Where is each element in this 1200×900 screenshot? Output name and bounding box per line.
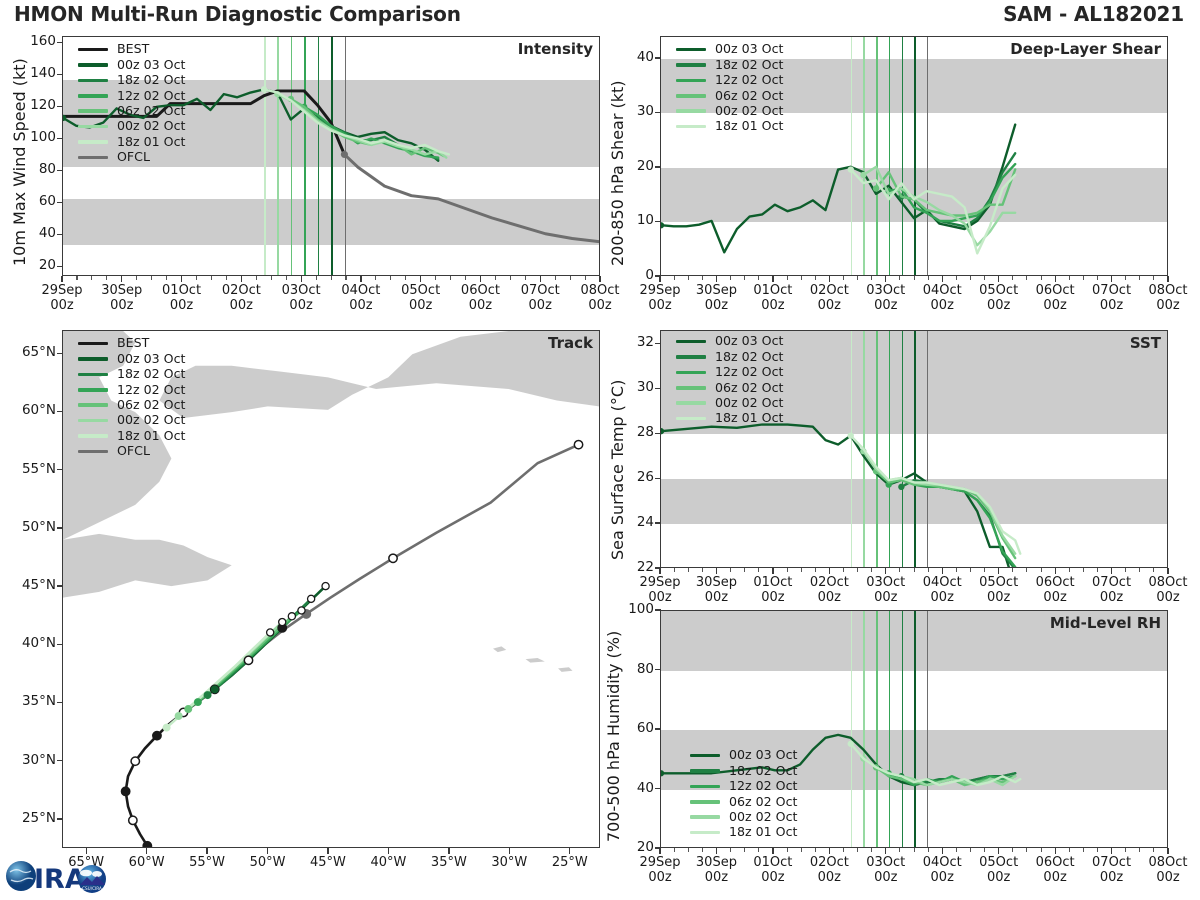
x-minor-tick-mark — [375, 276, 376, 280]
track-x-tick-label: 40°W — [356, 856, 420, 871]
legend-color-swatch-icon — [78, 109, 108, 113]
x-minor-tick-mark — [801, 568, 802, 572]
sst-y-tick-label: 22 — [612, 559, 654, 575]
legend-color-swatch-icon — [676, 371, 706, 375]
x-tick-mark — [241, 276, 242, 282]
legend-color-swatch-icon — [78, 125, 108, 129]
x-minor-tick-mark — [899, 568, 900, 572]
run-track-end-marker — [288, 613, 295, 620]
x-minor-tick-mark — [787, 848, 788, 852]
legend-label: 18z 01 Oct — [117, 136, 185, 149]
track-legend-row: 12z 02 Oct — [78, 382, 185, 397]
x-minor-tick-mark — [899, 848, 900, 852]
x-minor-tick-mark — [702, 848, 703, 852]
series-start-marker — [873, 185, 879, 191]
x-minor-tick-mark — [815, 276, 816, 280]
x-tick-mark — [1055, 276, 1056, 282]
x-minor-tick-mark — [758, 276, 759, 280]
legend-color-swatch-icon — [690, 769, 720, 773]
x-minor-tick-mark — [730, 848, 731, 852]
x-tick-mark — [540, 276, 541, 282]
intensity-legend: BEST00z 03 Oct18z 02 Oct12z 02 Oct06z 02… — [78, 42, 185, 165]
x-minor-tick-mark — [688, 848, 689, 852]
run-track-end-marker — [279, 618, 286, 625]
x-tick-mark — [772, 568, 773, 574]
shear-legend-row: 00z 02 Oct — [676, 104, 783, 119]
legend-color-swatch-icon — [78, 94, 108, 98]
run-track-start-marker — [194, 698, 202, 706]
y-tick-mark — [655, 275, 661, 276]
rh-legend-row: 18z 01 Oct — [690, 825, 797, 840]
legend-label: 00z 02 Oct — [729, 811, 797, 824]
rh-y-tick-label: 80 — [612, 661, 654, 677]
intensity-legend-row: 18z 02 Oct — [78, 73, 185, 88]
legend-label: 18z 01 Oct — [715, 120, 783, 133]
legend-label: 06z 02 Oct — [729, 796, 797, 809]
sst-legend-row: 18z 01 Oct — [676, 411, 783, 426]
legend-color-swatch-icon — [78, 419, 108, 423]
legend-color-swatch-icon — [78, 63, 108, 67]
x-minor-tick-mark — [815, 848, 816, 852]
x-minor-tick-mark — [730, 276, 731, 280]
x-minor-tick-mark — [1069, 568, 1070, 572]
intensity-x-tick-label: 04Oct00z — [327, 284, 395, 314]
best-track-12z-marker — [131, 757, 139, 765]
legend-label: 00z 02 Oct — [117, 120, 185, 133]
legend-color-swatch-icon — [690, 785, 720, 789]
shear-legend-row: 18z 02 Oct — [676, 57, 783, 72]
legend-color-swatch-icon — [78, 450, 108, 454]
legend-label: 12z 02 Oct — [117, 384, 185, 397]
legend-color-swatch-icon — [78, 140, 108, 144]
legend-color-swatch-icon — [78, 357, 108, 361]
sst-panel-title: SST — [1130, 334, 1161, 352]
intensity-y-tick-label: 140 — [14, 65, 56, 81]
x-minor-tick-mark — [495, 276, 496, 280]
x-tick-mark — [772, 276, 773, 282]
intensity-x-tick-label: 05Oct00z — [387, 284, 455, 314]
track-y-tick-label: 40°N — [0, 635, 56, 651]
x-tick-mark — [206, 848, 207, 854]
legend-color-swatch-icon — [690, 754, 720, 758]
x-minor-tick-mark — [390, 276, 391, 280]
best-track-12z-marker — [244, 656, 252, 664]
x-minor-tick-mark — [196, 276, 197, 280]
intensity-x-tick-label: 01Oct00z — [148, 284, 216, 314]
x-minor-tick-mark — [106, 276, 107, 280]
intensity-y-tick-label: 120 — [14, 97, 56, 113]
legend-label: OFCL — [117, 151, 150, 164]
intensity-legend-row: OFCL — [78, 150, 185, 165]
track-legend-row: 00z 02 Oct — [78, 413, 185, 428]
x-minor-tick-mark — [801, 276, 802, 280]
track-y-tick-label: 55°N — [0, 461, 56, 477]
shear-panel-title: Deep-Layer Shear — [1010, 40, 1161, 58]
legend-color-swatch-icon — [676, 109, 706, 113]
x-minor-tick-mark — [674, 276, 675, 280]
legend-label: 00z 02 Oct — [715, 105, 783, 118]
x-minor-tick-mark — [450, 276, 451, 280]
legend-label: 18z 02 Oct — [117, 74, 185, 87]
track-legend-row: OFCL — [78, 444, 185, 459]
x-tick-mark — [1111, 568, 1112, 574]
run-track-start-marker — [211, 685, 219, 693]
x-tick-mark — [1111, 276, 1112, 282]
x-minor-tick-mark — [1041, 848, 1042, 852]
x-minor-tick-mark — [1125, 848, 1126, 852]
best-track-00z-marker — [153, 731, 161, 739]
legend-color-swatch-icon — [78, 434, 108, 438]
legend-label: 12z 02 Oct — [117, 90, 185, 103]
rh-legend: 00z 03 Oct18z 02 Oct12z 02 Oct06z 02 Oct… — [690, 748, 797, 840]
rh-panel-title: Mid-Level RH — [1050, 614, 1161, 632]
intensity-x-tick-label: 06Oct00z — [446, 284, 514, 314]
shear-y-tick-label: 40 — [612, 49, 654, 65]
legend-label: 00z 02 Oct — [715, 397, 783, 410]
intensity-y-tick-label: 80 — [14, 161, 56, 177]
x-tick-mark — [942, 276, 943, 282]
legend-label: 00z 03 Oct — [715, 43, 783, 56]
x-tick-mark — [388, 848, 389, 854]
x-minor-tick-mark — [744, 848, 745, 852]
x-tick-mark — [829, 276, 830, 282]
legend-label: 18z 01 Oct — [729, 826, 797, 839]
x-minor-tick-mark — [1069, 276, 1070, 280]
sst-legend-row: 18z 02 Oct — [676, 349, 783, 364]
x-tick-mark — [509, 848, 510, 854]
legend-label: OFCL — [117, 445, 150, 458]
x-minor-tick-mark — [984, 848, 985, 852]
x-minor-tick-mark — [1041, 276, 1042, 280]
sst-y-tick-label: 32 — [612, 334, 654, 350]
x-tick-mark — [1055, 568, 1056, 574]
rh-y-tick-label: 20 — [612, 839, 654, 855]
legend-color-swatch-icon — [676, 386, 706, 390]
x-tick-mark — [267, 848, 268, 854]
legend-label: 18z 02 Oct — [715, 351, 783, 364]
x-minor-tick-mark — [871, 848, 872, 852]
x-minor-tick-mark — [674, 568, 675, 572]
x-tick-mark — [716, 276, 717, 282]
run-track-end-marker — [322, 583, 329, 590]
sst-y-tick-label: 24 — [612, 514, 654, 530]
track-legend-row: BEST — [78, 336, 185, 351]
track-x-tick-label: 35°W — [417, 856, 481, 871]
intensity-legend-row: 06z 02 Oct — [78, 104, 185, 119]
page-title: HMON Multi-Run Diagnostic Comparison — [14, 2, 461, 26]
x-minor-tick-mark — [857, 568, 858, 572]
track-legend-row: 00z 03 Oct — [78, 351, 185, 366]
x-minor-tick-mark — [1026, 276, 1027, 280]
x-minor-tick-mark — [166, 276, 167, 280]
x-minor-tick-mark — [525, 276, 526, 280]
x-minor-tick-mark — [730, 568, 731, 572]
intensity-x-tick-label: 08Oct00z — [566, 284, 634, 314]
series-start-marker — [660, 222, 664, 228]
track-x-tick-label: 55°W — [175, 856, 239, 871]
sst-legend-row: 06z 02 Oct — [676, 380, 783, 395]
x-tick-mark — [772, 848, 773, 854]
legend-label: 12z 02 Oct — [715, 74, 783, 87]
legend-label: BEST — [117, 337, 149, 350]
x-minor-tick-mark — [286, 276, 287, 280]
shear-legend-row: 18z 01 Oct — [676, 119, 783, 134]
x-minor-tick-mark — [688, 568, 689, 572]
x-tick-mark — [998, 848, 999, 854]
run-track-end-marker — [308, 595, 315, 602]
shear-legend-row: 00z 03 Oct — [676, 42, 783, 57]
x-minor-tick-mark — [1041, 568, 1042, 572]
sst-y-tick-label: 28 — [612, 424, 654, 440]
rh-x-tick-label: 08Oct00z — [1134, 856, 1200, 886]
x-minor-tick-mark — [970, 568, 971, 572]
x-minor-tick-mark — [256, 276, 257, 280]
x-minor-tick-mark — [405, 276, 406, 280]
x-tick-mark — [1167, 568, 1168, 574]
x-tick-mark — [448, 848, 449, 854]
x-minor-tick-mark — [151, 276, 152, 280]
sst-x-tick-label: 08Oct00z — [1134, 576, 1200, 606]
run-track-end-marker — [267, 629, 274, 636]
x-tick-mark — [885, 276, 886, 282]
legend-label: 00z 03 Oct — [117, 59, 185, 72]
x-tick-mark — [942, 568, 943, 574]
rh-y-tick-label: 40 — [612, 780, 654, 796]
legend-color-swatch-icon — [676, 63, 706, 67]
track-panel-title: Track — [548, 334, 593, 352]
track-y-tick-label: 25°N — [0, 810, 56, 826]
ofcl-track-marker — [574, 440, 582, 448]
intensity-panel-title: Intensity — [518, 40, 593, 58]
run-track-start-marker — [184, 705, 192, 713]
x-tick-mark — [998, 276, 999, 282]
storm-id-title: SAM - AL182021 — [1003, 2, 1184, 26]
x-tick-mark — [885, 568, 886, 574]
legend-label: 18z 02 Oct — [117, 368, 185, 381]
y-tick-mark — [655, 847, 661, 848]
track-legend-row: 06z 02 Oct — [78, 398, 185, 413]
intensity-y-tick-label: 20 — [14, 257, 56, 273]
x-minor-tick-mark — [1153, 848, 1154, 852]
legend-label: 06z 02 Oct — [117, 399, 185, 412]
x-minor-tick-mark — [1139, 276, 1140, 280]
shear-legend-row: 06z 02 Oct — [676, 88, 783, 103]
x-tick-mark — [659, 568, 660, 574]
x-minor-tick-mark — [465, 276, 466, 280]
x-tick-mark — [146, 848, 147, 854]
x-minor-tick-mark — [1069, 848, 1070, 852]
x-tick-mark — [569, 848, 570, 854]
sst-y-tick-label: 30 — [612, 379, 654, 395]
x-minor-tick-mark — [801, 848, 802, 852]
shear-y-tick-label: 10 — [612, 212, 654, 228]
best-track-00z-marker — [121, 787, 129, 795]
intensity-x-tick-label: 03Oct00z — [267, 284, 335, 314]
azores-island-c — [558, 667, 572, 672]
shear-x-tick-label: 08Oct00z — [1134, 284, 1200, 314]
intensity-legend-row: BEST — [78, 42, 185, 57]
x-minor-tick-mark — [758, 848, 759, 852]
series-line — [661, 125, 1015, 253]
series-line — [344, 154, 599, 241]
x-minor-tick-mark — [510, 276, 511, 280]
legend-color-swatch-icon — [78, 156, 108, 160]
legend-label: 00z 03 Oct — [117, 353, 185, 366]
x-minor-tick-mark — [871, 276, 872, 280]
x-minor-tick-mark — [1097, 276, 1098, 280]
x-minor-tick-mark — [744, 276, 745, 280]
x-tick-mark — [121, 276, 122, 282]
legend-label: 06z 02 Oct — [715, 382, 783, 395]
azores-island-a — [493, 646, 506, 652]
x-minor-tick-mark — [271, 276, 272, 280]
x-tick-mark — [942, 848, 943, 854]
legend-color-swatch-icon — [676, 94, 706, 98]
sst-legend-row: 12z 02 Oct — [676, 365, 783, 380]
maritimes-landmass — [63, 534, 232, 598]
sst-legend-row: 00z 02 Oct — [676, 396, 783, 411]
x-minor-tick-mark — [570, 276, 571, 280]
x-minor-tick-mark — [1125, 568, 1126, 572]
x-minor-tick-mark — [435, 276, 436, 280]
track-x-tick-label: 60°W — [115, 856, 179, 871]
legend-color-swatch-icon — [78, 48, 108, 52]
x-minor-tick-mark — [555, 276, 556, 280]
x-tick-mark — [1167, 276, 1168, 282]
x-minor-tick-mark — [956, 848, 957, 852]
intensity-x-tick-label: 07Oct00z — [506, 284, 574, 314]
intensity-y-tick-label: 160 — [14, 33, 56, 49]
azores-island-b — [526, 658, 545, 663]
intensity-legend-row: 18z 01 Oct — [78, 134, 185, 149]
x-minor-tick-mark — [914, 848, 915, 852]
track-line — [126, 628, 283, 846]
rh-y-tick-label: 60 — [612, 720, 654, 736]
track-x-tick-label: 25°W — [538, 856, 602, 871]
legend-label: 18z 02 Oct — [715, 59, 783, 72]
legend-color-swatch-icon — [676, 417, 706, 421]
legend-color-swatch-icon — [676, 355, 706, 359]
series-start-marker — [660, 428, 664, 434]
legend-color-swatch-icon — [78, 373, 108, 377]
track-legend: BEST00z 03 Oct18z 02 Oct12z 02 Oct06z 02… — [78, 336, 185, 459]
x-tick-mark — [1055, 848, 1056, 854]
track-legend-row: 18z 01 Oct — [78, 428, 185, 443]
x-tick-mark — [829, 568, 830, 574]
x-minor-tick-mark — [585, 276, 586, 280]
series-line — [661, 425, 1010, 568]
legend-color-swatch-icon — [676, 79, 706, 83]
x-minor-tick-mark — [815, 568, 816, 572]
x-minor-tick-mark — [984, 276, 985, 280]
intensity-y-tick-label: 40 — [14, 225, 56, 241]
x-tick-mark — [716, 848, 717, 854]
intensity-y-tick-label: 60 — [14, 193, 56, 209]
x-minor-tick-mark — [674, 848, 675, 852]
track-line — [265, 445, 578, 644]
intensity-legend-row: 00z 02 Oct — [78, 119, 185, 134]
sst-legend-row: 00z 03 Oct — [676, 334, 783, 349]
x-minor-tick-mark — [1153, 276, 1154, 280]
ofcl-start-marker — [341, 151, 348, 158]
x-tick-mark — [716, 568, 717, 574]
x-minor-tick-mark — [226, 276, 227, 280]
x-minor-tick-mark — [843, 276, 844, 280]
legend-label: 12z 02 Oct — [715, 366, 783, 379]
series-start-marker — [848, 432, 854, 438]
legend-label: 18z 01 Oct — [117, 430, 185, 443]
legend-label: 00z 03 Oct — [715, 335, 783, 348]
x-minor-tick-mark — [331, 276, 332, 280]
shear-legend: 00z 03 Oct18z 02 Oct12z 02 Oct06z 02 Oct… — [676, 42, 783, 134]
x-minor-tick-mark — [1097, 568, 1098, 572]
x-minor-tick-mark — [1083, 848, 1084, 852]
legend-color-swatch-icon — [78, 403, 108, 407]
series-start-marker — [848, 166, 854, 172]
track-x-tick-label: 45°W — [296, 856, 360, 871]
intensity-x-tick-label: 02Oct00z — [207, 284, 275, 314]
series-line — [863, 451, 1015, 553]
x-minor-tick-mark — [899, 276, 900, 280]
x-minor-tick-mark — [1012, 276, 1013, 280]
legend-label: BEST — [117, 43, 149, 56]
best-track-12z-marker — [129, 816, 137, 824]
intensity-legend-row: 00z 03 Oct — [78, 57, 185, 72]
x-tick-mark — [360, 276, 361, 282]
x-tick-mark — [885, 848, 886, 854]
screenshot-root: HMON Multi-Run Diagnostic Comparison SAM… — [0, 0, 1200, 900]
x-minor-tick-mark — [1012, 848, 1013, 852]
x-minor-tick-mark — [1026, 848, 1027, 852]
x-minor-tick-mark — [211, 276, 212, 280]
x-minor-tick-mark — [702, 568, 703, 572]
x-minor-tick-mark — [1083, 568, 1084, 572]
rh-legend-row: 12z 02 Oct — [690, 779, 797, 794]
legend-color-swatch-icon — [676, 125, 706, 129]
legend-label: 18z 02 Oct — [729, 765, 797, 778]
rh-legend-row: 18z 02 Oct — [690, 763, 797, 778]
svg-text:CSU/CIRA: CSU/CIRA — [82, 886, 102, 891]
shear-legend-row: 12z 02 Oct — [676, 73, 783, 88]
x-minor-tick-mark — [843, 568, 844, 572]
best-track-00z-marker — [143, 842, 151, 847]
x-minor-tick-mark — [857, 276, 858, 280]
y-tick-mark — [655, 567, 661, 568]
legend-color-swatch-icon — [676, 340, 706, 344]
x-tick-mark — [420, 276, 421, 282]
cira-logo: IRA CSU/CIRA — [4, 852, 112, 898]
x-minor-tick-mark — [1097, 848, 1098, 852]
legend-label: 12z 02 Oct — [729, 780, 797, 793]
series-start-marker — [860, 172, 866, 178]
track-y-tick-label: 60°N — [0, 402, 56, 418]
x-minor-tick-mark — [1026, 568, 1027, 572]
x-minor-tick-mark — [928, 568, 929, 572]
track-y-tick-label: 30°N — [0, 752, 56, 768]
x-minor-tick-mark — [1083, 276, 1084, 280]
intensity-x-tick-label: 29Sep00z — [28, 284, 96, 314]
x-tick-mark — [61, 276, 62, 282]
track-legend-row: 18z 02 Oct — [78, 367, 185, 382]
x-minor-tick-mark — [928, 276, 929, 280]
run-track-start-marker — [204, 691, 212, 699]
x-minor-tick-mark — [76, 276, 77, 280]
legend-label: 00z 03 Oct — [729, 749, 797, 762]
series-line — [863, 167, 1015, 245]
shear-y-tick-label: 20 — [612, 158, 654, 174]
run-track-start-marker — [175, 712, 183, 720]
x-minor-tick-mark — [91, 276, 92, 280]
